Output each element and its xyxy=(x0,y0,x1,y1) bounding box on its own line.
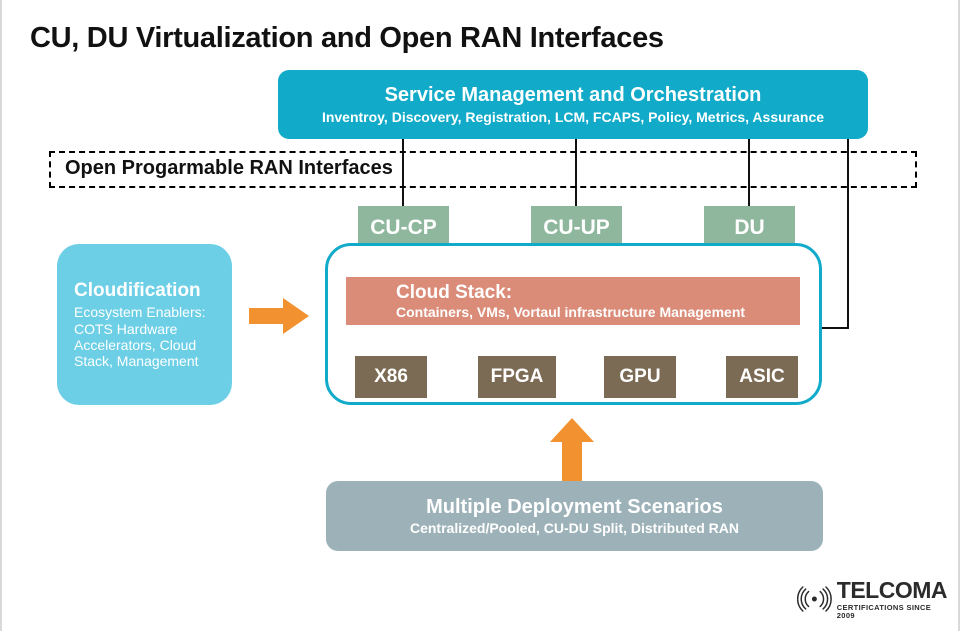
cloud-stack-box[interactable]: Cloud Stack: Containers, VMs, Vortaul in… xyxy=(346,277,800,325)
deployment-heading: Multiple Deployment Scenarios xyxy=(426,496,723,518)
deployment-scenarios-box[interactable]: Multiple Deployment Scenarios Centralize… xyxy=(326,481,823,551)
wireless-signal-icon xyxy=(797,584,832,614)
arrow-right-icon xyxy=(249,296,309,336)
cloudification-box[interactable]: Cloudification Ecosystem Enablers: COTS … xyxy=(57,244,232,405)
cloudification-heading: Cloudification xyxy=(74,280,201,301)
deployment-subtext: Centralized/Pooled, CU-DU Split, Distrib… xyxy=(410,520,739,536)
service-management-orchestration-box[interactable]: Service Management and Orchestration Inv… xyxy=(278,70,868,139)
arrow-up-icon xyxy=(550,418,594,482)
telcoma-logo: TELCOMA CERTIFICATIONS SINCE 2009 xyxy=(797,578,947,620)
hardware-box-label: ASIC xyxy=(739,366,784,387)
hardware-box-x86[interactable]: X86 xyxy=(355,356,427,398)
hardware-box-label: FPGA xyxy=(491,366,544,387)
cloudification-subtext: Ecosystem Enablers: COTS Hardware Accele… xyxy=(74,304,206,368)
cloudification-subtext-line: Accelerators, Cloud xyxy=(74,337,206,353)
hardware-box-label: X86 xyxy=(374,366,408,387)
function-box-label: CU-UP xyxy=(543,216,610,240)
cloud-stack-subtext: Containers, VMs, Vortaul infrastructure … xyxy=(396,304,745,320)
page-title: CU, DU Virtualization and Open RAN Inter… xyxy=(30,22,664,55)
hardware-box-gpu[interactable]: GPU xyxy=(604,356,676,398)
diagram-canvas: CU, DU Virtualization and Open RAN Inter… xyxy=(0,0,960,631)
hardware-box-asic[interactable]: ASIC xyxy=(726,356,798,398)
hardware-box-fpga[interactable]: FPGA xyxy=(478,356,556,398)
logo-tagline: CERTIFICATIONS SINCE 2009 xyxy=(837,604,947,619)
cloudification-subtext-line: Ecosystem Enablers: xyxy=(74,304,206,320)
cloudification-subtext-line: COTS Hardware xyxy=(74,321,206,337)
function-box-label: DU xyxy=(734,216,764,240)
smo-subtext: Inventroy, Discovery, Registration, LCM,… xyxy=(322,109,824,125)
logo-brand: TELCOMA xyxy=(837,579,947,602)
function-box-label: CU-CP xyxy=(370,216,437,240)
cloudification-subtext-line: Stack, Management xyxy=(74,353,206,369)
open-interfaces-label: Open Progarmable RAN Interfaces xyxy=(62,157,396,180)
hardware-box-label: GPU xyxy=(619,366,660,387)
cloud-stack-heading: Cloud Stack: xyxy=(396,282,512,303)
smo-heading: Service Management and Orchestration xyxy=(385,84,762,106)
connector-line-right-horizontal xyxy=(820,327,849,329)
logo-wordmark: TELCOMA CERTIFICATIONS SINCE 2009 xyxy=(837,579,947,619)
